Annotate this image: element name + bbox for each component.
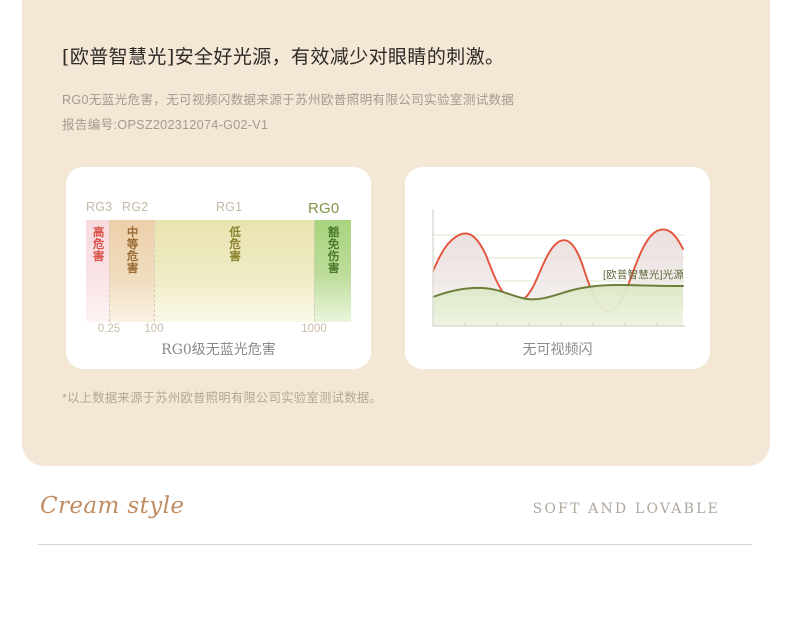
brand-divider	[38, 544, 752, 545]
band-rg2-moderate-risk: 中等危害	[109, 220, 154, 322]
band-rg1-low-risk: 低危害	[154, 220, 314, 322]
brand-tagline: SOFT AND LOVABLE	[533, 501, 720, 517]
band-divider-1	[109, 220, 111, 322]
axis-tick-100: 100	[144, 323, 163, 335]
flicker-chart-card: [欧普智慧光]光源 无可视频闪	[405, 167, 710, 369]
report-number-line: 报告编号:OPSZ202312074-G02-V1	[62, 114, 268, 133]
band-divider-2	[154, 220, 156, 322]
brand-script-label: Cream style	[40, 493, 184, 519]
flicker-chart-caption: 无可视频闪	[405, 339, 710, 359]
rg-header-rg3: RG3	[86, 200, 112, 214]
blue-light-chart-card: RG3 RG2 RG1 RG0 高危害 中等危害 低危害 豁免伤害 0.25 1…	[66, 167, 371, 369]
axis-tick-1000: 1000	[301, 323, 327, 335]
flicker-legend-label: [欧普智慧光]光源	[603, 267, 684, 282]
page-title: [欧普智慧光]安全好光源，有效减少对眼睛的刺激。	[62, 42, 504, 69]
flicker-waveform-plot	[427, 205, 689, 327]
data-source-line: RG0无蓝光危害，无可视频闪数据来源于苏州欧普照明有限公司实验室测试数据	[62, 89, 514, 108]
data-source-footnote: *以上数据来源于苏州欧普照明有限公司实验室测试数据。	[62, 388, 382, 406]
axis-tick-0-25: 0.25	[98, 323, 120, 335]
band-label-rg3: 高危害	[91, 226, 103, 262]
band-label-rg1: 低危害	[228, 226, 240, 262]
risk-group-band-plot: 高危害 中等危害 低危害 豁免伤害 0.25 100 1000	[86, 220, 351, 322]
rg-header-rg1: RG1	[216, 200, 242, 214]
band-label-rg2: 中等危害	[125, 226, 137, 274]
band-label-rg0: 豁免伤害	[326, 226, 338, 274]
band-divider-3	[314, 220, 316, 322]
rg-header-rg2: RG2	[122, 200, 148, 214]
blue-light-chart-caption: RG0级无蓝光危害	[66, 339, 371, 359]
rg-header-rg0: RG0	[308, 200, 339, 217]
risk-group-headers: RG3 RG2 RG1 RG0	[86, 200, 351, 218]
band-rg3-high-risk: 高危害	[86, 220, 109, 322]
band-rg0-exempt: 豁免伤害	[314, 220, 351, 322]
